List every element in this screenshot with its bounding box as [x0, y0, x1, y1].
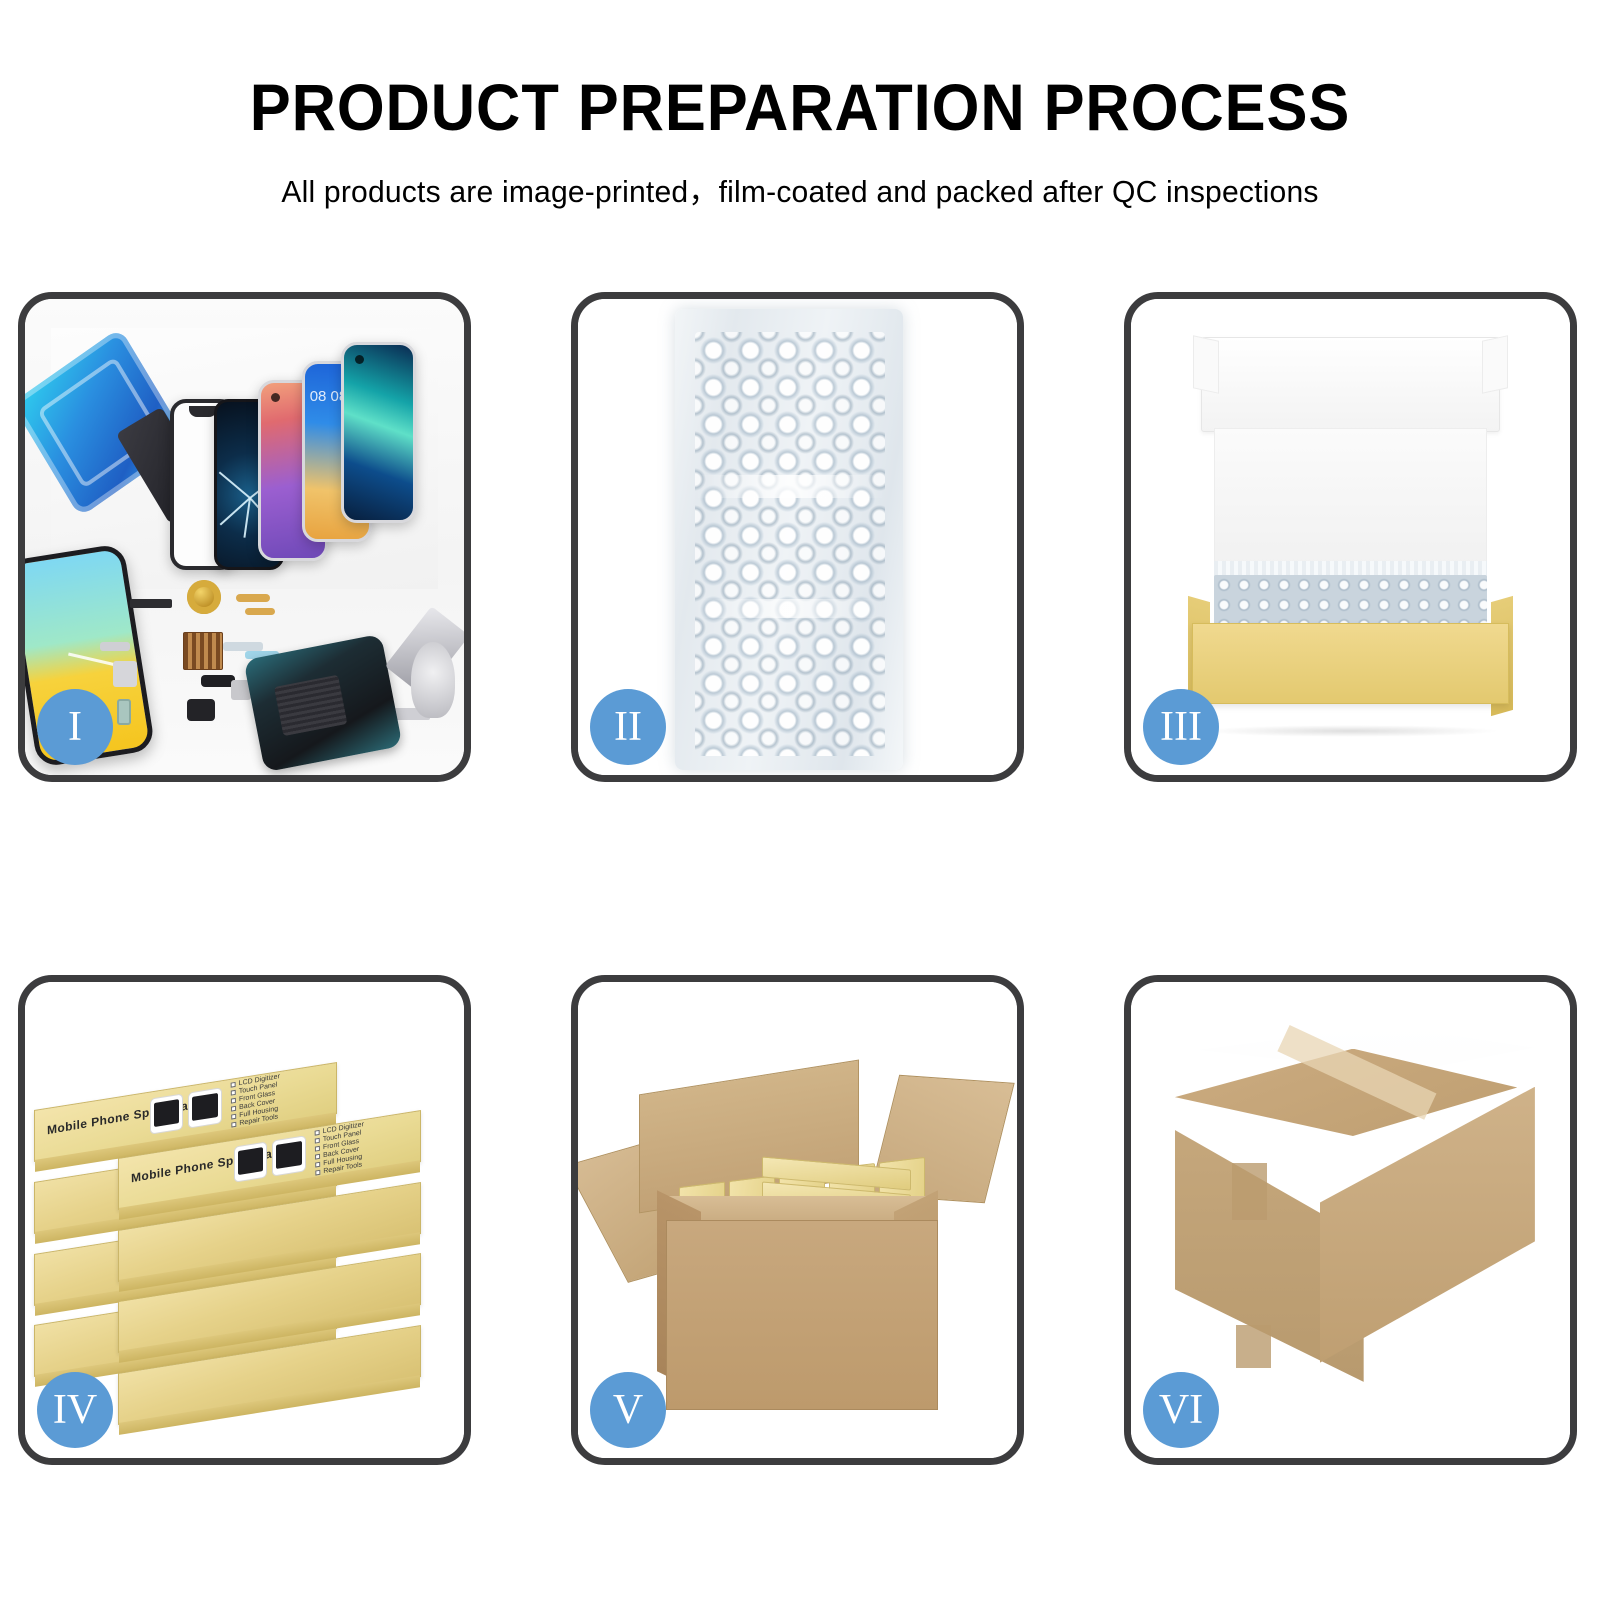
back-housing-part: [244, 634, 404, 773]
step-badge-2: II: [590, 689, 666, 765]
connector-cable-part: [113, 661, 137, 687]
checkbox-icon: [230, 1090, 235, 1096]
checkbox-icon: [315, 1138, 320, 1144]
page-subtitle: All products are image-printed，film-coat…: [24, 166, 1576, 211]
step-badge-4: IV: [37, 1372, 113, 1448]
phone-screen-teal: [341, 342, 416, 523]
retail-box-stack: Mobile Phone Spare Parts LCD Digitizer T…: [34, 1030, 455, 1430]
cleaning-brush-tool: [411, 642, 455, 718]
step-badge-6: VI: [1143, 1372, 1219, 1448]
checkbox-icon: [315, 1146, 320, 1152]
process-step-grid: 08 08: [18, 292, 1582, 1465]
sim-tray-part: [117, 699, 131, 725]
page-title: PRODUCT PREPARATION PROCESS: [56, 74, 1544, 140]
camera-hole-icon: [271, 393, 280, 402]
page-header: PRODUCT PREPARATION PROCESS All products…: [0, 0, 1600, 211]
checkbox-icon: [230, 1082, 235, 1088]
box-back-wall: [1214, 428, 1486, 580]
box-product-thumbnails: [149, 1087, 221, 1134]
step-panel-2[interactable]: II: [571, 292, 1024, 782]
step-panel-1[interactable]: 08 08: [18, 292, 471, 782]
step-badge-1: I: [37, 689, 113, 765]
wireless-charging-coil-part: [187, 580, 221, 614]
bubble-wrap-package: [675, 309, 903, 771]
checkbox-icon: [315, 1170, 320, 1176]
step-badge-5: V: [590, 1372, 666, 1448]
bubble-wrapped-product: [1214, 575, 1486, 627]
phone-thumbnail-icon: [149, 1093, 183, 1134]
earpiece-mesh-part: [130, 599, 172, 608]
checkbox-icon: [315, 1154, 320, 1160]
ic-chip-part: [183, 632, 223, 670]
box-side-face: [119, 1376, 420, 1436]
camera-hole-icon: [355, 355, 364, 364]
step-panel-5[interactable]: V: [571, 975, 1024, 1465]
checkbox-icon: [315, 1130, 320, 1136]
flex-cable-part: [245, 608, 275, 615]
step-panel-3[interactable]: III: [1124, 292, 1577, 782]
checkbox-icon: [315, 1162, 320, 1168]
bubble-pattern-layer: [695, 332, 884, 757]
checkbox-icon: [231, 1122, 236, 1128]
box-front-wall: [1192, 623, 1508, 704]
speaker-module-part: [187, 699, 215, 721]
packing-tape-corner: [1232, 1163, 1267, 1220]
film-highlight: [695, 599, 884, 617]
flex-cable-part: [223, 642, 263, 651]
connector-cable-part: [100, 642, 130, 651]
phone-thumbnail-icon: [188, 1087, 222, 1128]
speaker-part: [201, 675, 235, 687]
checkbox-icon: [231, 1106, 236, 1112]
carton-front: [666, 1220, 938, 1410]
step-panel-4[interactable]: Mobile Phone Spare Parts LCD Digitizer T…: [18, 975, 471, 1465]
packing-tape-bottom: [1236, 1325, 1271, 1368]
checkbox-icon: [231, 1098, 236, 1104]
flex-cable-part: [236, 594, 270, 602]
step-panel-6[interactable]: VI: [1124, 975, 1577, 1465]
phone-thumbnail-icon: [234, 1141, 268, 1182]
phone-thumbnail-icon: [272, 1135, 306, 1176]
box-product-thumbnails: [234, 1135, 306, 1182]
film-highlight: [695, 475, 884, 498]
checkbox-icon: [231, 1114, 236, 1120]
box-lid: [1201, 337, 1500, 432]
crack-line: [219, 471, 251, 498]
step-badge-3: III: [1143, 689, 1219, 765]
box-shadow: [1201, 725, 1500, 737]
